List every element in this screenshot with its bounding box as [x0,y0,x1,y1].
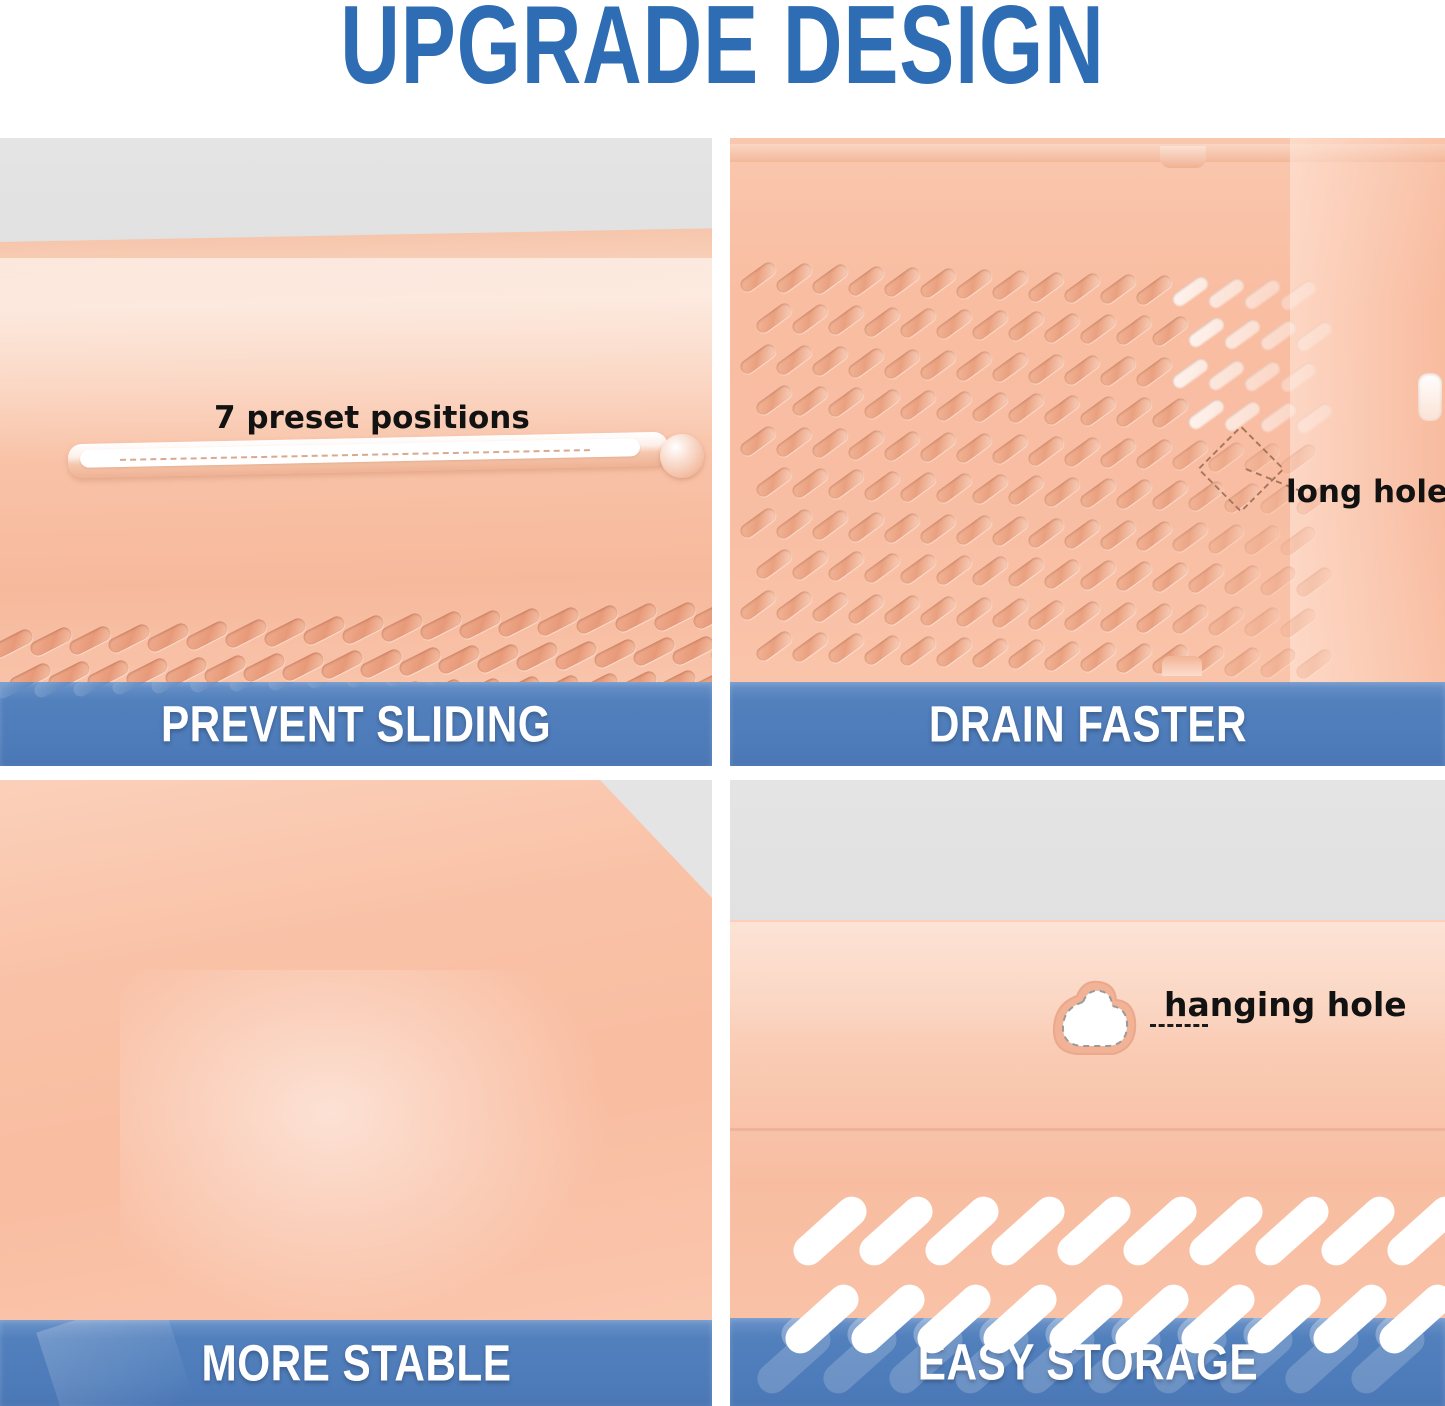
drain-slot [1278,278,1319,313]
drain-slot [1186,315,1227,350]
drain-slot [882,346,923,381]
storage-slot-pattern [730,780,1445,1406]
drain-slot [535,604,581,637]
drain-slot [882,510,923,545]
drain-slot [1114,559,1155,594]
panel-caption-more-stable: MORE STABLE [0,1320,712,1406]
panel-caption-text: MORE STABLE [201,1333,511,1392]
feature-panel-grid: 7 preset positions PREVENT SLIDING [0,138,1445,1406]
drain-slot [774,507,815,542]
drain-slot [846,427,887,462]
page-title-text: UPGRADE DESIGN [340,0,1104,102]
drain-slot [1258,399,1299,434]
drain-slot [970,308,1011,343]
drain-slot [934,389,975,424]
drain-slot [1134,601,1175,636]
drain-slot [1222,316,1263,351]
hanging-hole-icon [1043,976,1148,1074]
hanging-hole [1043,976,1148,1074]
drain-slot [71,682,115,698]
drain-slot [898,469,939,504]
drain-slot [862,468,903,503]
drain-slot [305,682,349,691]
drain-slot [882,592,923,627]
drain-slot [280,650,326,683]
drain-slot [1114,395,1155,430]
drain-slot [1006,309,1047,344]
drain-slot [1114,641,1155,676]
drain-slot [1186,397,1227,432]
drain-slot [262,616,308,649]
drain-slot [184,619,230,652]
drain-slot [826,549,867,584]
drain-slot [1186,561,1227,596]
drain-slot [0,682,37,701]
panel-caption-drain-faster: DRAIN FASTER [730,682,1445,766]
drain-slot [514,640,560,673]
drain-slot [970,390,1011,425]
drain-slot [1294,401,1335,436]
drain-slot [898,305,939,340]
drain-slot [862,632,903,667]
drain-slot [826,631,867,666]
drain-slot [1042,392,1083,427]
drain-slot [28,625,74,658]
drain-slot [898,387,939,422]
drain-slot [461,682,505,686]
drain-slot [1242,522,1283,557]
drain-slot [970,636,1011,671]
drain-slot [810,508,851,543]
drain-slot [754,547,795,582]
drain-slot [970,472,1011,507]
drain-slot [985,1190,1070,1271]
panel-easy-storage[interactable]: hanging hole EASY STORAGE [730,780,1445,1406]
drain-slot [810,344,851,379]
panel-more-stable-photo: four pads MORE STABLE [0,780,712,1406]
caption-rail-shadow [36,1320,194,1406]
drain-slot [652,600,698,633]
drain-slot [790,384,831,419]
drain-slot [774,425,815,460]
drain-slot [1242,276,1283,311]
drain-slot [1134,519,1175,554]
drain-slot [1134,437,1175,472]
drain-slot [1258,317,1299,352]
drain-slot [862,550,903,585]
drain-slot [1134,355,1175,390]
panel-caption-text: PREVENT SLIDING [161,694,551,753]
drain-slot [110,682,154,697]
panel-easy-storage-photo: hanging hole EASY STORAGE [730,780,1445,1406]
drain-slot [1006,637,1047,672]
drain-slot [670,634,712,667]
drain-slot [227,682,271,694]
drain-slot [1186,643,1227,678]
drain-slot [1078,393,1119,428]
drain-slot [846,509,887,544]
drain-slot [67,624,113,657]
drain-slot [145,620,191,653]
drain-slot [1222,562,1263,597]
drain-slot [846,263,887,298]
drain-slot [990,268,1031,303]
drain-slot [1062,352,1103,387]
drain-slot [223,617,269,650]
drain-slot [500,682,544,685]
drain-slot [1242,604,1283,639]
drain-slot [553,638,599,671]
drain-slot [1026,433,1067,468]
drain-slot [1134,273,1175,308]
drain-slot [990,432,1031,467]
annotation-hanging-hole: hanging hole [1164,985,1407,1024]
drain-slot [1278,606,1319,641]
drain-slot [826,303,867,338]
drain-slot [340,612,386,645]
drain-slot [754,383,795,418]
drain-slot [1026,597,1067,632]
drain-slot [1206,275,1247,310]
panel-more-stable[interactable]: four pads MORE STABLE [0,780,712,1406]
drain-slot [1078,311,1119,346]
drain-slot [918,348,959,383]
drain-slot [1078,475,1119,510]
drain-slot [1206,357,1247,392]
drain-slot [1170,274,1211,309]
drain-slot [990,596,1031,631]
drain-slot [1150,478,1191,513]
drain-slot [1315,1190,1400,1271]
page-title: UPGRADE DESIGN [0,0,1445,98]
drain-slot [344,682,388,690]
drain-slot [1206,521,1247,556]
panel-caption-prevent-sliding: PREVENT SLIDING [0,682,712,766]
drain-slot [790,302,831,337]
drain-slot [918,430,959,465]
drain-slot [1170,520,1211,555]
drain-slot [1150,642,1191,677]
drain-slot [1278,360,1319,395]
drain-slot [898,551,939,586]
drain-slot [810,262,851,297]
drain-slot [774,261,815,296]
drain-slot [1114,477,1155,512]
drain-slot [853,1190,938,1271]
drain-slot [738,260,779,295]
drain-slot [898,633,939,668]
drain-slot [882,264,923,299]
drain-slot [1117,1190,1202,1271]
drain-slot [1206,603,1247,638]
drain-slot [934,553,975,588]
drain-slot [1294,565,1335,600]
drain-slot [301,614,347,647]
drain-slot [418,609,464,642]
drain-slot [954,349,995,384]
drain-slot [1278,442,1319,477]
drain-slot [1026,269,1067,304]
drain-slot [1150,314,1191,349]
drain-slot [496,606,542,639]
drain-slot [241,651,287,684]
drain-slot [574,603,620,636]
drain-slot [1114,313,1155,348]
drain-slot [1258,563,1299,598]
drain-slot [1098,518,1139,553]
drain-slot [1242,358,1283,393]
drain-slot [613,601,659,634]
drain-slot [1062,598,1103,633]
drain-slot [790,466,831,501]
drain-slot [862,386,903,421]
drain-slot [1006,555,1047,590]
annotation-preset-positions: 7 preset positions [214,400,530,436]
drain-slot [1170,356,1211,391]
drain-slot-pattern [730,138,1445,766]
drain-slot [319,648,365,681]
drain-slot [1170,602,1211,637]
drain-slot [738,424,779,459]
drain-slot [1294,647,1335,682]
drain-slot [1150,396,1191,431]
drain-slot [738,588,779,623]
drain-slot [1062,434,1103,469]
drain-slot [790,630,831,665]
hanging-hole-leader-line [1150,1024,1208,1027]
drain-slot [990,350,1031,385]
drain-slot [1062,516,1103,551]
panel-prevent-sliding[interactable]: 7 preset positions PREVENT SLIDING [0,138,712,766]
drain-slot [846,345,887,380]
drain-slot [1042,638,1083,673]
drain-slot [1098,354,1139,389]
drain-slot [1098,600,1139,635]
drain-slot [774,343,815,378]
panel-caption-text: DRAIN FASTER [928,694,1246,753]
drain-slot [990,514,1031,549]
drain-slot [475,642,521,675]
drain-slot [0,627,35,660]
drain-slot [1258,645,1299,680]
annotation-long-hole: long hole [1286,474,1445,510]
drain-slot [774,589,815,624]
drain-slot [266,682,310,692]
drain-slot [1249,1190,1334,1271]
drain-slot [106,622,152,655]
underside-slot-pattern [0,780,712,1406]
drain-slot [32,682,76,700]
drain-slot [1078,557,1119,592]
drain-slot [422,682,466,688]
drain-slot [1026,515,1067,550]
drain-slot [954,595,995,630]
drain-slot [1150,560,1191,595]
drain-slot [1278,524,1319,559]
drain-slot [1098,436,1139,471]
drain-slot [934,635,975,670]
drain-slot [919,1190,1004,1271]
drain-slot [918,512,959,547]
drain-slot [592,637,638,670]
drain-slot [358,646,404,679]
drain-slot [826,385,867,420]
drain-slot [1042,310,1083,345]
drain-slot [1051,1190,1136,1271]
drain-slot [738,342,779,377]
drain-slot [918,266,959,301]
drain-slot [826,467,867,502]
panel-drain-faster-photo: long hole DRAIN FASTER [730,138,1445,766]
panel-prevent-sliding-photo: 7 preset positions PREVENT SLIDING [0,138,712,766]
drain-slot [970,554,1011,589]
drain-slot [882,428,923,463]
drain-slot [1042,556,1083,591]
drain-slot [954,513,995,548]
drain-slot [379,611,425,644]
drain-slot [1006,391,1047,426]
drain-slot [539,682,583,684]
drain-slot [790,548,831,583]
drain-slot [188,682,232,695]
drain-slot [787,1190,872,1271]
drain-slot [810,426,851,461]
drain-slot [1078,639,1119,674]
drain-slot [436,643,482,676]
drain-slot [397,645,443,678]
drain-slot [738,506,779,541]
drain-slot [754,629,795,664]
drain-slot [954,431,995,466]
drain-slot [1294,319,1335,354]
drain-slot [846,591,887,626]
drain-slot [1062,270,1103,305]
panel-drain-faster[interactable]: long hole DRAIN FASTER [730,138,1445,766]
drain-slot [954,267,995,302]
drain-slot [754,301,795,336]
drain-slot [1026,351,1067,386]
drain-slot [457,608,503,641]
drain-slot [918,594,959,629]
drain-slot [934,471,975,506]
drain-slot [1222,644,1263,679]
drain-slot [754,465,795,500]
drain-slot-pattern [0,138,712,766]
drain-slot [1098,272,1139,307]
drain-slot [1042,474,1083,509]
drain-slot [862,304,903,339]
drain-slot [691,598,712,631]
drain-slot [578,682,622,683]
drain-slot [1183,1190,1268,1271]
drain-slot [810,590,851,625]
drain-slot [383,682,427,689]
drain-slot [1006,473,1047,508]
drain-slot [934,307,975,342]
drain-slot [631,635,677,668]
